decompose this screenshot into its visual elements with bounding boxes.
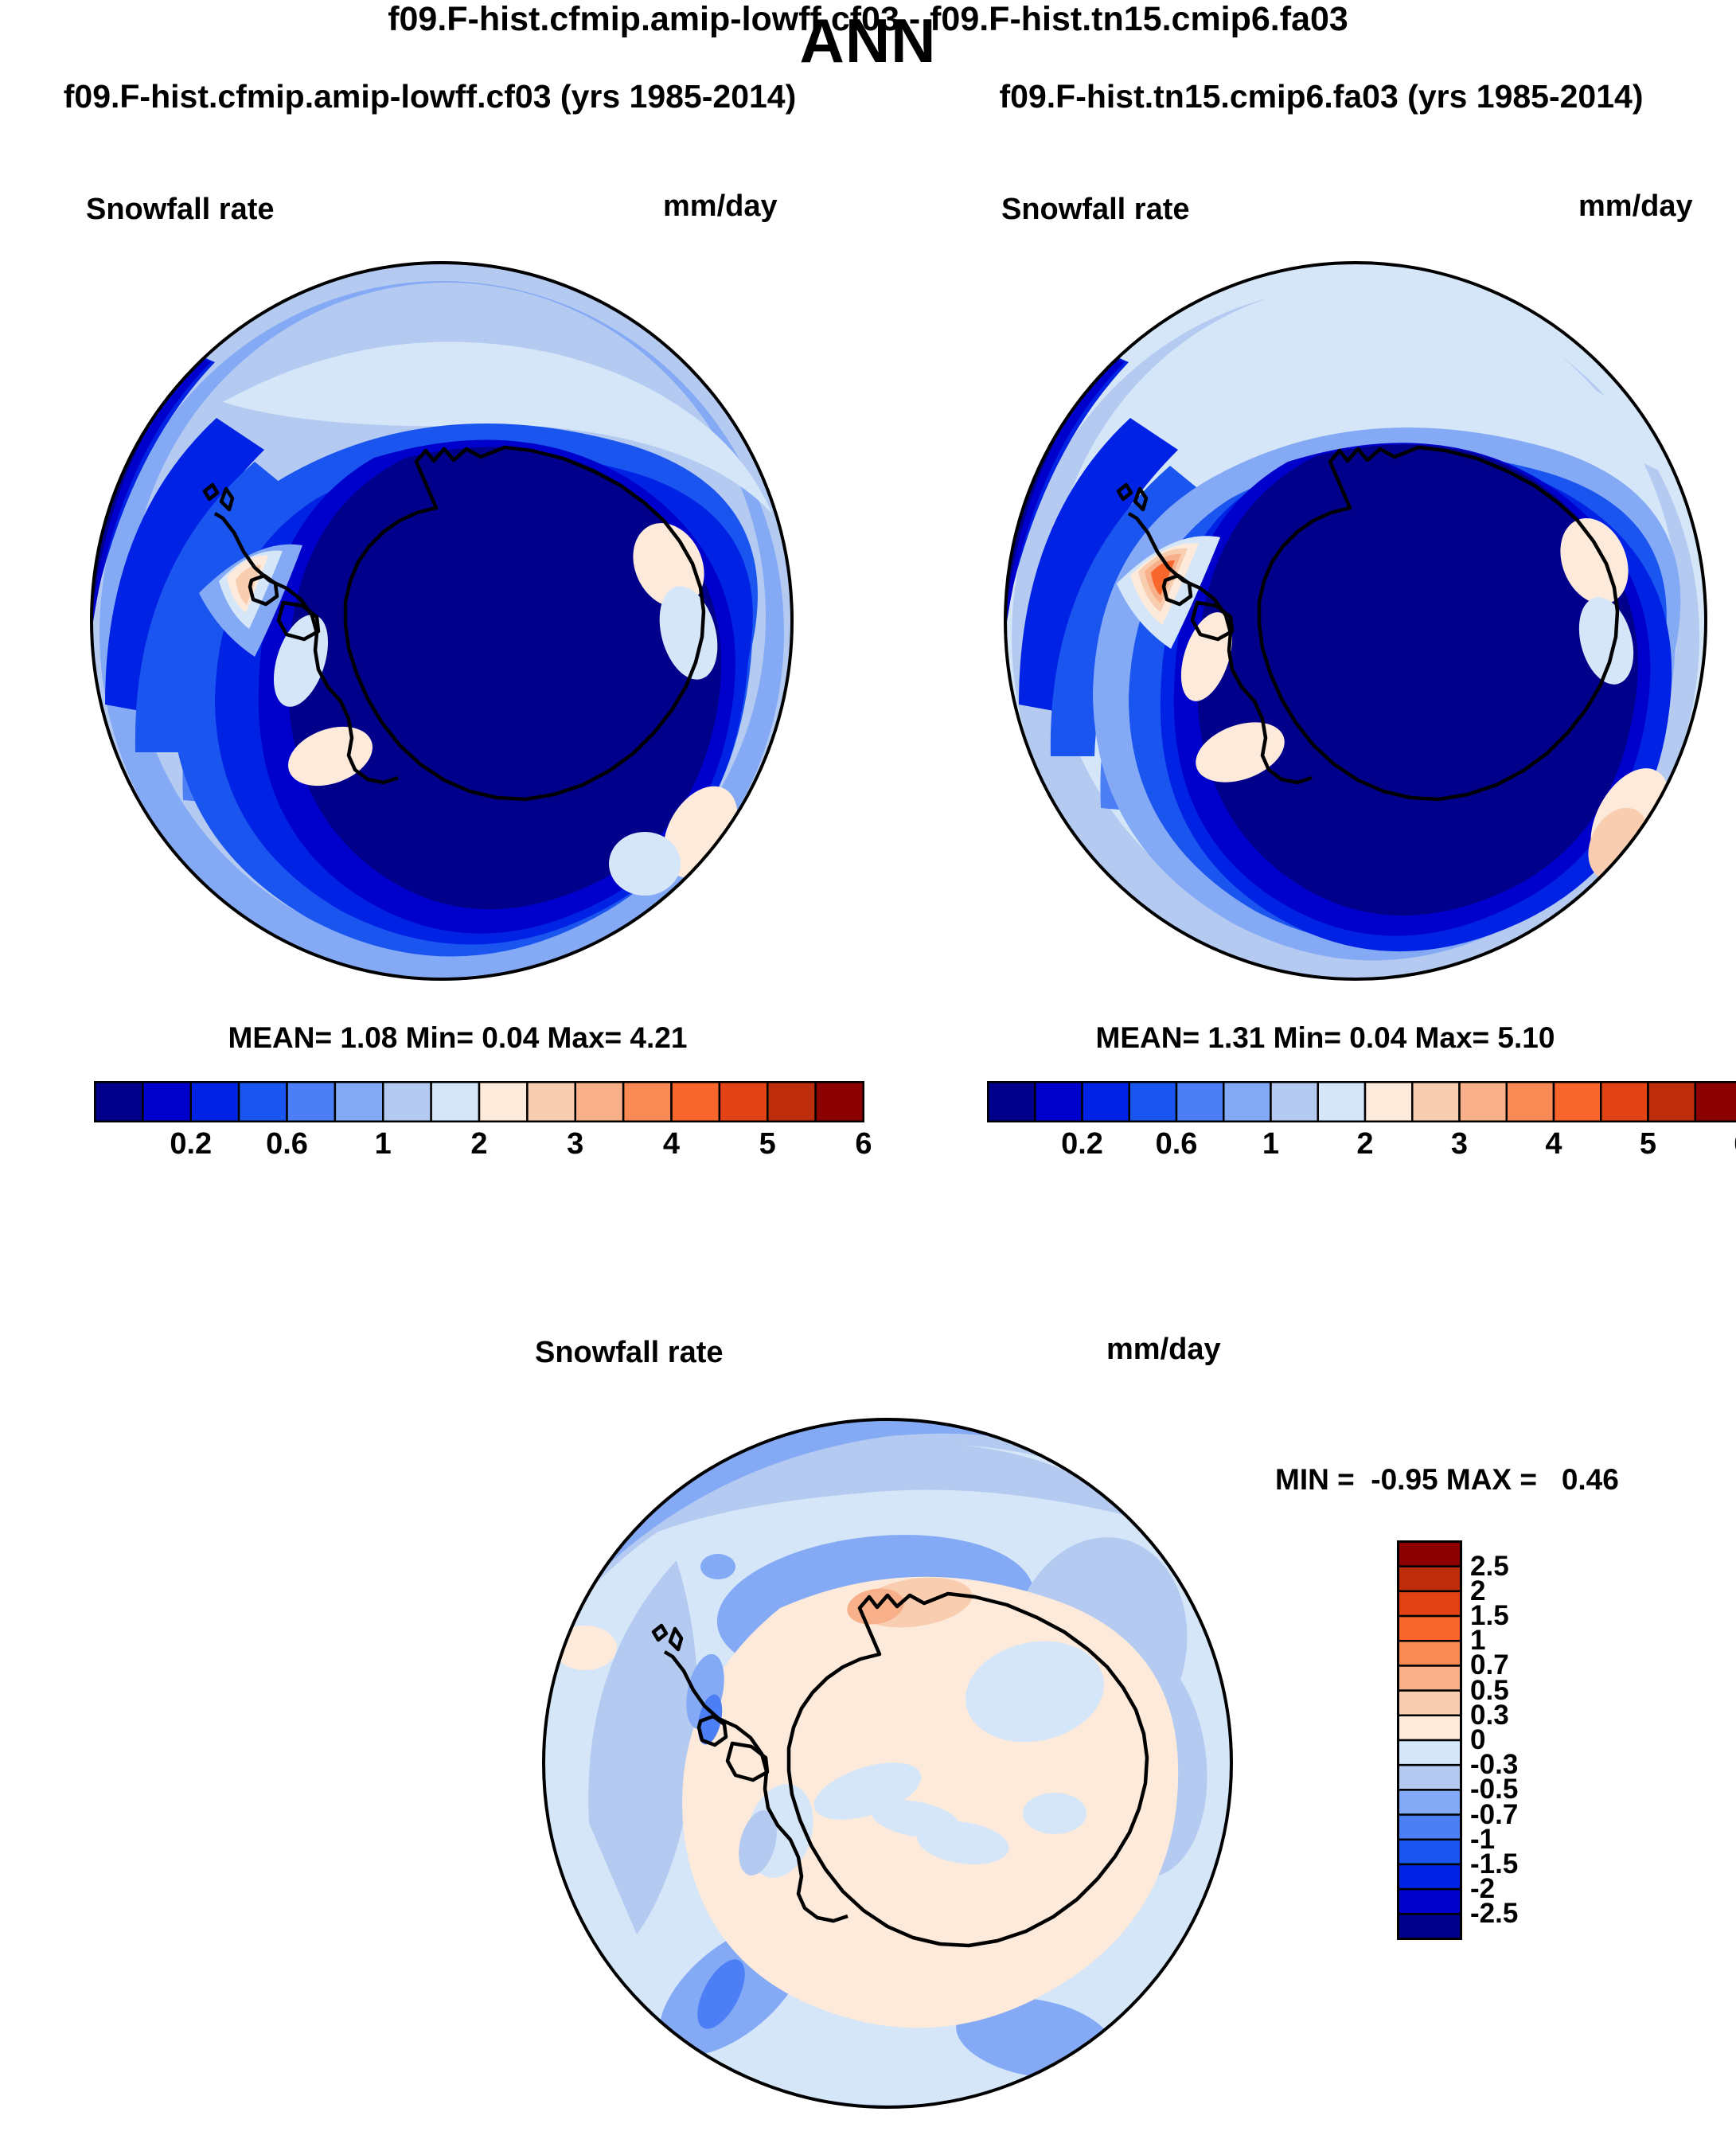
colorbar-segment: [1083, 1082, 1129, 1122]
colorbar-tick-label: 5: [759, 1127, 776, 1161]
diff-colorbar-ticks: 2.521.510.70.50.30-0.3-0.5-0.7-1-1.5-2-2…: [1470, 1540, 1613, 1940]
right-map: [1001, 259, 1710, 983]
diff-colorbar: 2.521.510.70.50.30-0.3-0.5-0.7-1-1.5-2-2…: [1397, 1540, 1462, 1940]
colorbar-segment: [1129, 1082, 1176, 1122]
colorbar-segment: [1399, 1567, 1461, 1591]
colorbar-segment: [1399, 1765, 1461, 1790]
colorbar-tick-label: 5: [1640, 1127, 1656, 1161]
right-variable-label: Snowfall rate: [1001, 193, 1190, 227]
difference-map: [541, 1409, 1234, 2118]
colorbar-tick-label: 0.2: [170, 1127, 212, 1161]
colorbar-segment: [1648, 1082, 1695, 1122]
colorbar-segment: [1223, 1082, 1270, 1122]
colorbar-segment: [1507, 1082, 1554, 1122]
colorbar-tick-label: 0.6: [266, 1127, 308, 1161]
colorbar-segment: [1399, 1641, 1461, 1665]
colorbar-segment: [1399, 1716, 1461, 1740]
right-stats: MEAN= 1.31 Min= 0.04 Max= 5.10: [915, 1021, 1735, 1055]
colorbar-tick-label: 3: [567, 1127, 583, 1161]
colorbar-segment: [431, 1082, 479, 1122]
left-variable-label: Snowfall rate: [86, 193, 275, 227]
colorbar-segment: [239, 1082, 287, 1122]
colorbar-segment: [1399, 1914, 1461, 1938]
colorbar-tick-label: 1: [1262, 1127, 1279, 1161]
left-units-label: mm/day: [663, 189, 778, 224]
colorbar-segment: [1460, 1082, 1507, 1122]
colorbar-segment: [1399, 1740, 1461, 1765]
colorbar-tick-label: -2.5: [1470, 1898, 1598, 1930]
left-map: [88, 259, 796, 983]
colorbar-segment: [1695, 1082, 1736, 1122]
colorbar-segment: [1399, 1691, 1461, 1716]
colorbar-segment: [1601, 1082, 1648, 1122]
colorbar-segment: [142, 1082, 190, 1122]
colorbar-segment: [479, 1082, 527, 1122]
colorbar-segment: [1399, 1840, 1461, 1864]
colorbar-segment: [1399, 1790, 1461, 1814]
colorbar-tick-label: 1: [375, 1127, 392, 1161]
diff-minmax: MIN = -0.95 MAX = 0.46: [1275, 1463, 1619, 1497]
colorbar-segment: [623, 1082, 671, 1122]
colorbar-segment: [672, 1082, 720, 1122]
colorbar-segment: [1399, 1591, 1461, 1616]
colorbar-segment: [1412, 1082, 1459, 1122]
diff-units-label: mm/day: [1106, 1333, 1221, 1367]
colorbar-segment: [527, 1082, 575, 1122]
left-colorbar: 0.20.6123456: [94, 1081, 864, 1167]
colorbar-segment: [1399, 1864, 1461, 1889]
colorbar-segment: [767, 1082, 815, 1122]
colorbar-tick-label: 6: [855, 1127, 872, 1161]
colorbar-segment: [335, 1082, 383, 1122]
right-colorbar-ticks: 0.20.6123456: [987, 1122, 1736, 1167]
left-colorbar-ticks: 0.20.6123456: [94, 1122, 864, 1167]
right-units-label: mm/day: [1578, 189, 1693, 224]
colorbar-tick-label: 3: [1451, 1127, 1468, 1161]
colorbar-segment: [95, 1082, 142, 1122]
colorbar-segment: [1399, 1665, 1461, 1690]
left-panel-title: f09.F-hist.cfmip.amip-lowff.cf03 (yrs 19…: [8, 78, 852, 115]
colorbar-segment: [383, 1082, 431, 1122]
colorbar-segment: [1035, 1082, 1082, 1122]
colorbar-segment: [1399, 1542, 1461, 1567]
right-colorbar: 0.20.6123456: [987, 1081, 1736, 1167]
colorbar-segment: [988, 1082, 1035, 1122]
left-stats: MEAN= 1.08 Min= 0.04 Max= 4.21: [48, 1021, 868, 1055]
diff-variable-label: Snowfall rate: [535, 1336, 724, 1370]
colorbar-segment: [287, 1082, 335, 1122]
colorbar-tick-label: 0.2: [1061, 1127, 1103, 1161]
colorbar-segment: [1399, 1815, 1461, 1840]
diff-panel-title: f09.F-hist.cfmip.amip-lowff.cf03 - f09.F…: [0, 0, 1736, 39]
colorbar-segment: [575, 1082, 623, 1122]
colorbar-tick-label: 4: [1545, 1127, 1562, 1161]
colorbar-segment: [1365, 1082, 1412, 1122]
colorbar-segment: [1554, 1082, 1601, 1122]
right-panel-title: f09.F-hist.tn15.cmip6.fa03 (yrs 1985-201…: [915, 78, 1727, 115]
colorbar-segment: [1176, 1082, 1223, 1122]
colorbar-segment: [1399, 1616, 1461, 1641]
colorbar-segment: [720, 1082, 767, 1122]
colorbar-segment: [191, 1082, 239, 1122]
colorbar-segment: [816, 1082, 864, 1122]
colorbar-tick-label: 2: [470, 1127, 487, 1161]
colorbar-tick-label: 0.6: [1156, 1127, 1198, 1161]
colorbar-segment: [1318, 1082, 1365, 1122]
colorbar-segment: [1271, 1082, 1318, 1122]
colorbar-tick-label: 4: [663, 1127, 680, 1161]
colorbar-tick-label: 2: [1356, 1127, 1373, 1161]
colorbar-segment: [1399, 1889, 1461, 1914]
